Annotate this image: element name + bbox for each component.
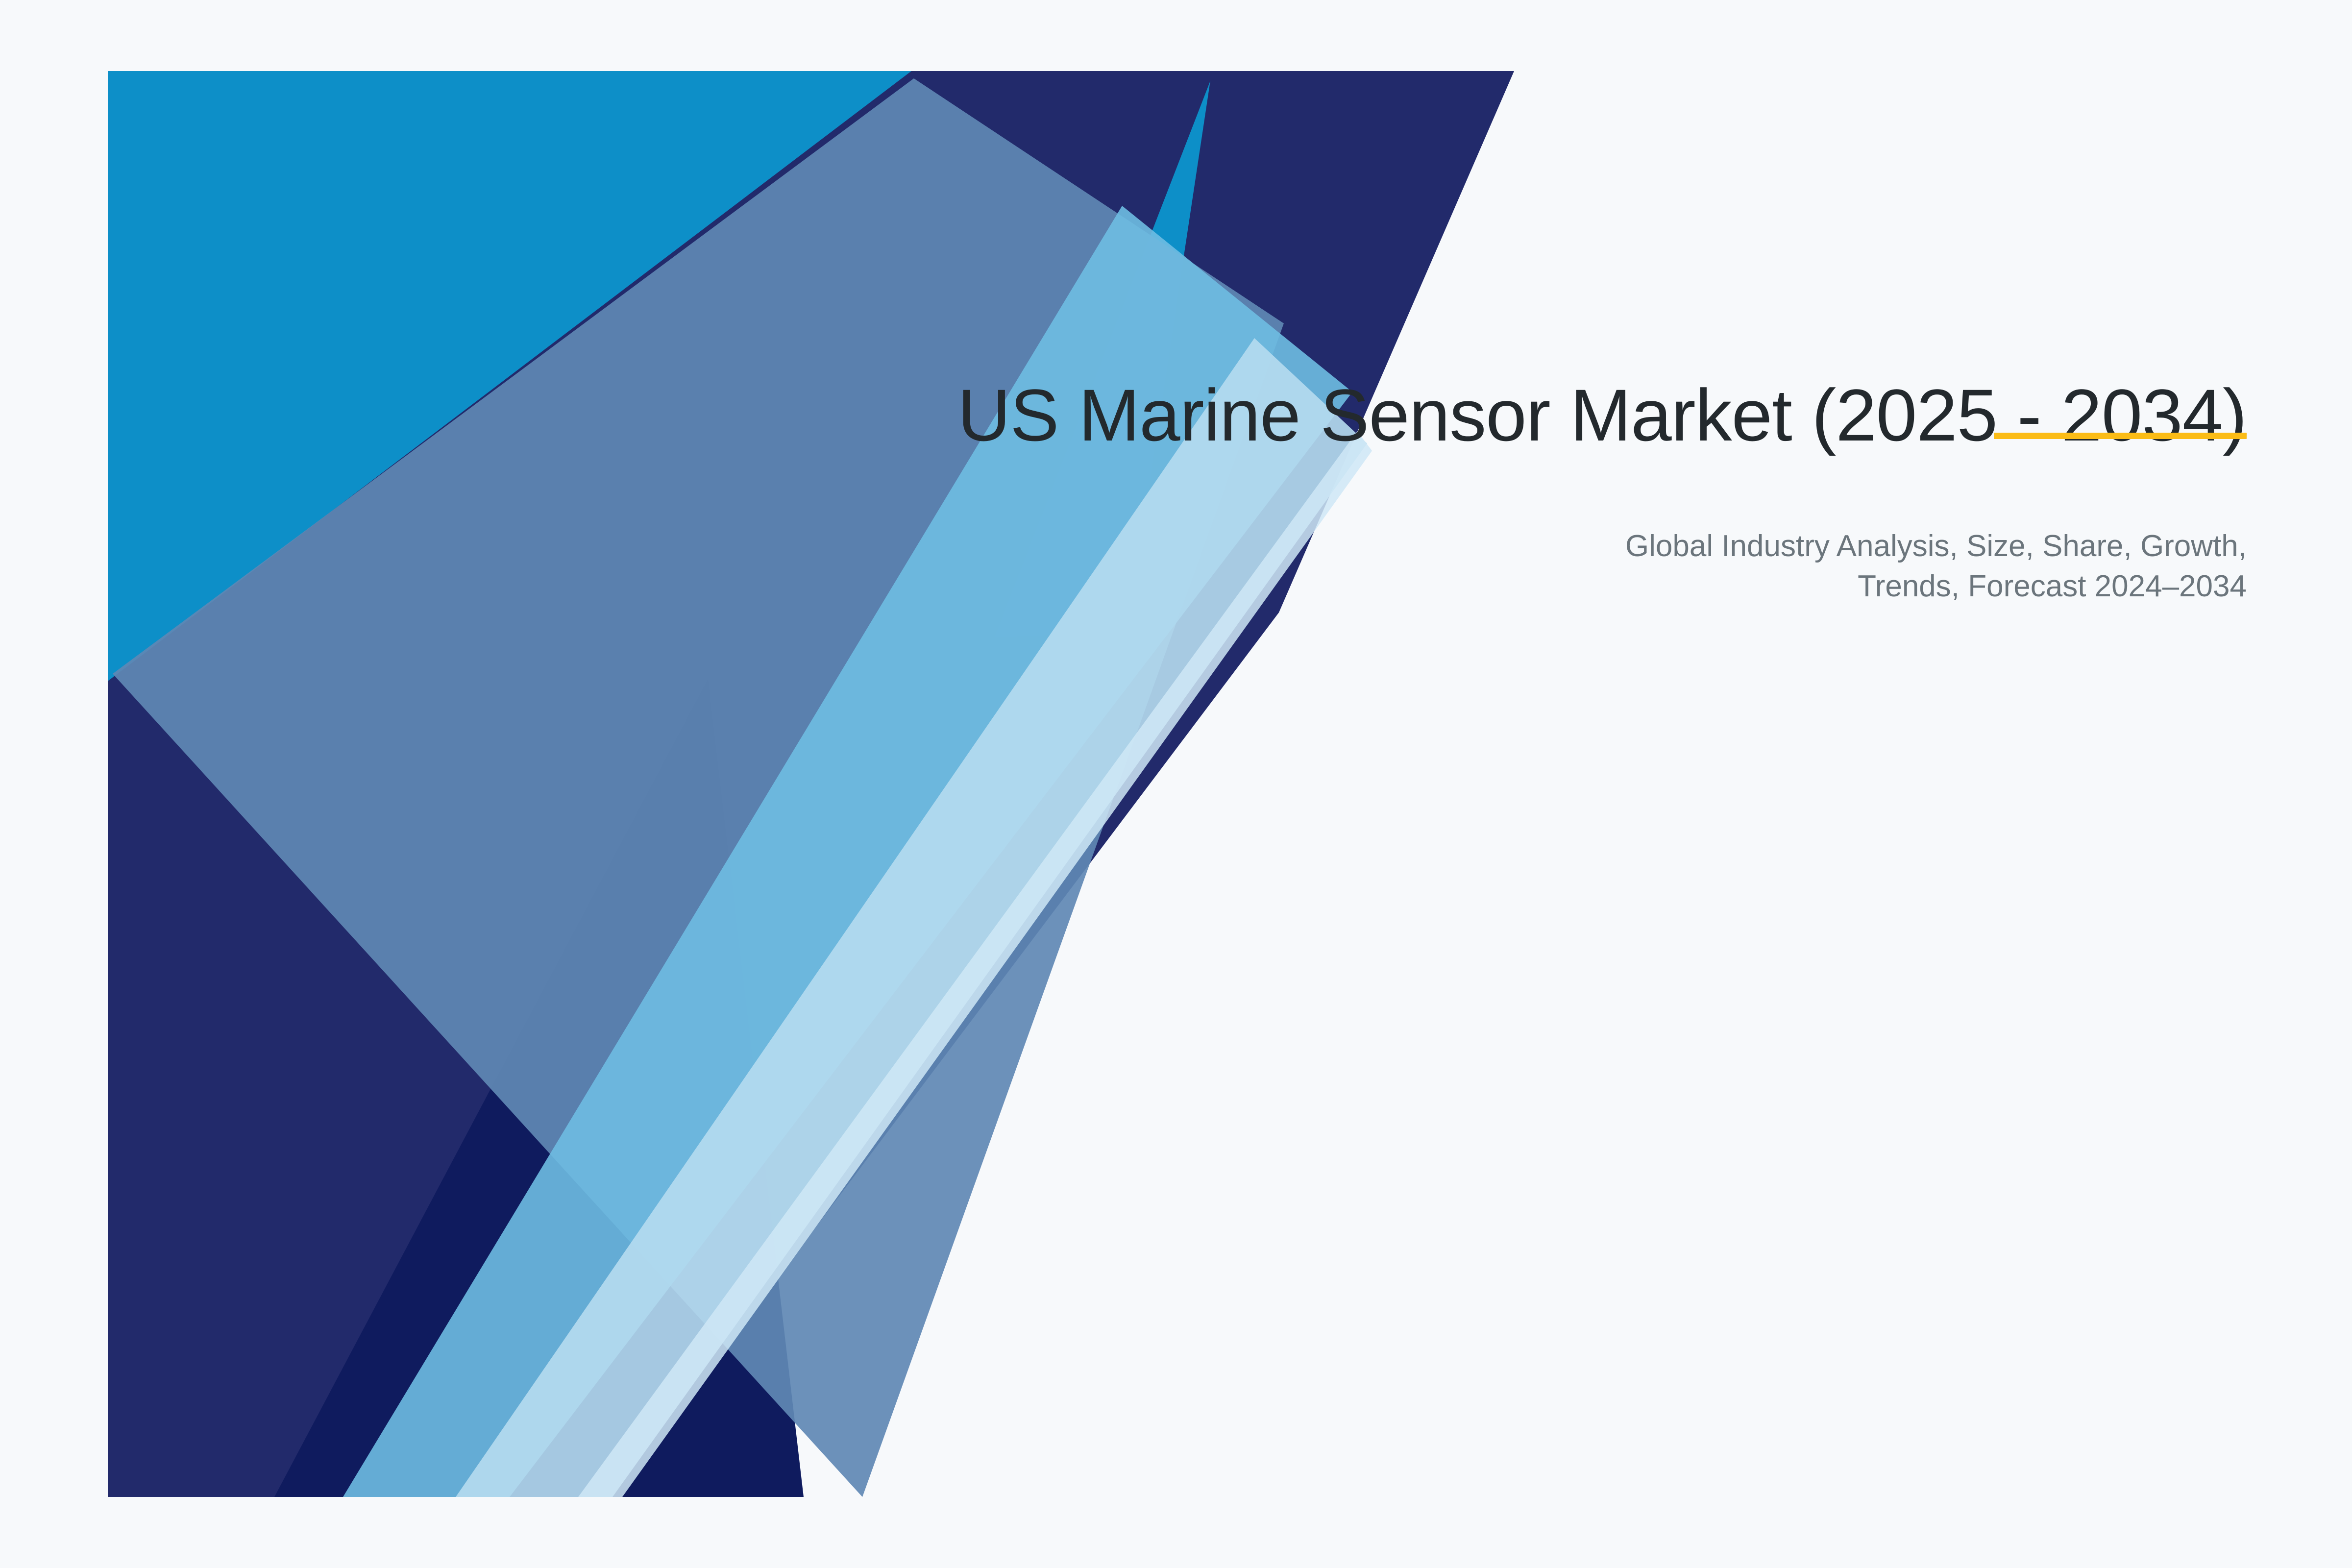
title-accent-underline	[1994, 433, 2247, 439]
title-wrapper: US Marine Sensor Market (2025 - 2034)	[953, 372, 2247, 458]
page-subtitle: Global Industry Analysis, Size, Share, G…	[1619, 526, 2247, 607]
cover-slide: US Marine Sensor Market (2025 - 2034) Gl…	[0, 0, 2352, 1568]
page-title: US Marine Sensor Market (2025 - 2034)	[953, 372, 2247, 458]
abstract-geometric-artwork	[0, 0, 2352, 1568]
cover-text-block: US Marine Sensor Market (2025 - 2034) Gl…	[953, 372, 2247, 607]
